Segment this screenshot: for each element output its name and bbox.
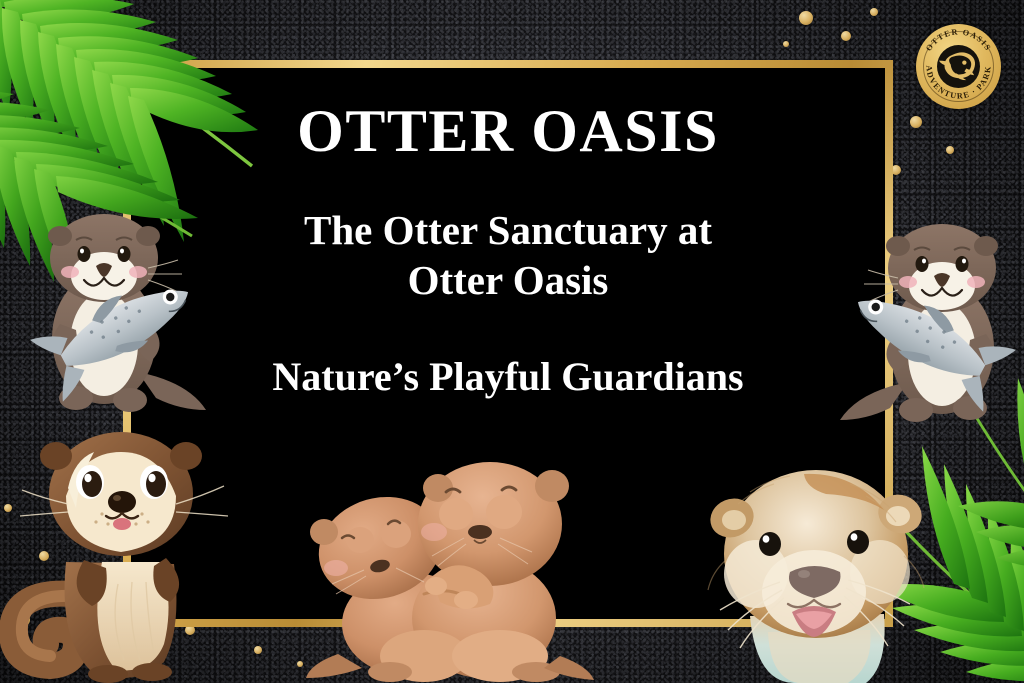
gold-speck-dot [910,116,922,128]
otter-holding-fish-left [20,196,220,424]
gold-speck-dot [783,41,789,47]
realistic-otter-face [698,456,936,683]
otter-oasis-adventure-park-badge[interactable]: OTTER OASIS ADVENTURE · PARK [916,24,1001,109]
otter-holding-fish-right [826,206,1024,434]
otter-head-silhouette-icon [937,45,980,88]
gold-speck-dot [841,31,851,41]
gold-speck-dot [799,11,813,25]
gold-speck-dot [297,661,303,667]
standing-otter [6,412,236,683]
gold-speck-dot [870,8,878,16]
gold-speck-dot [254,646,262,654]
gold-speck-dot [946,146,954,154]
badge-emblem [937,45,980,88]
poster-canvas: OTTER OASIS The Otter Sanctuary at Otter… [0,0,1024,683]
hugging-otter-pair [304,428,596,683]
